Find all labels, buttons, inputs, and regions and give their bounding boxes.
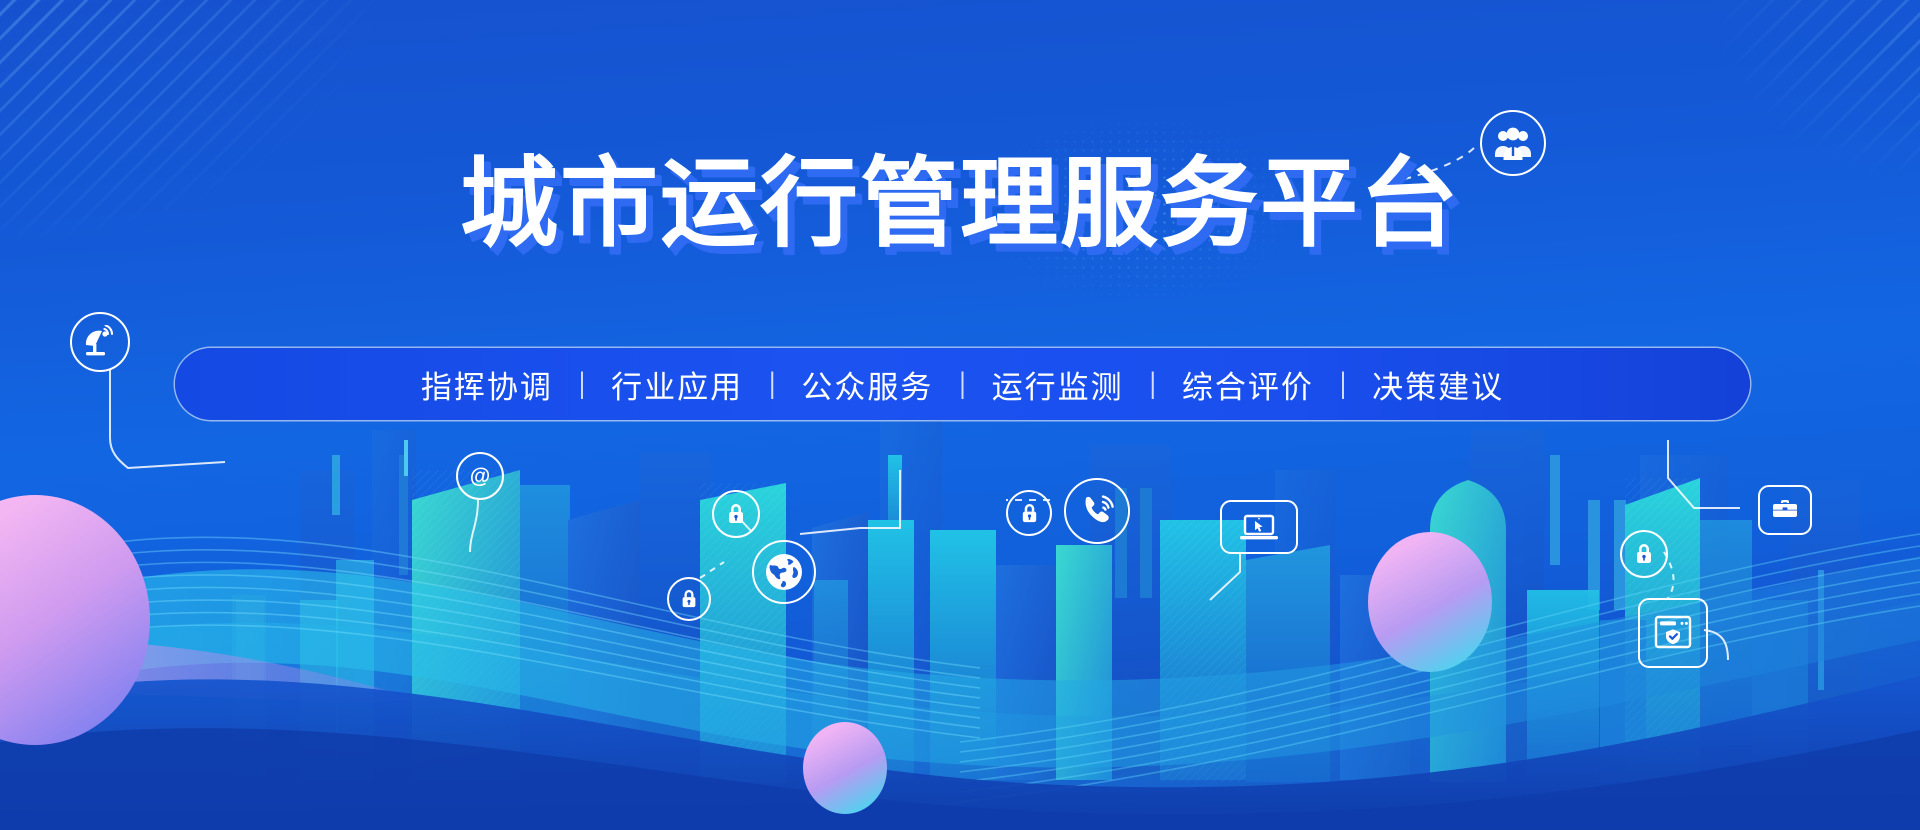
- sphere-left: [0, 495, 150, 745]
- nav-item-gongzhongfuwu[interactable]: 公众服务: [775, 362, 959, 407]
- nav-separator: |: [959, 367, 965, 402]
- globe-icon: [752, 540, 816, 604]
- nav-pill: 指挥协调 | 行业应用 | 公众服务 | 运行监测 | 综合评价 | 决策建议: [175, 348, 1750, 420]
- wave-band-upper: [0, 556, 1920, 768]
- briefcase-icon: [1758, 485, 1812, 535]
- nav-separator: |: [579, 367, 585, 402]
- people-group-icon: [1480, 110, 1546, 176]
- banner-canvas: 城市运行管理服务平台 指挥协调 | 行业应用 | 公众服务 | 运行监测 | 综…: [0, 0, 1920, 830]
- satellite-dish-icon: [70, 312, 130, 372]
- nav-item-zonghepingjia[interactable]: 综合评价: [1156, 362, 1340, 407]
- wave-band-foreground: [0, 676, 1920, 830]
- lock-icon: [1620, 530, 1668, 578]
- laptop-cursor-icon: [1220, 500, 1298, 554]
- nav-separator: |: [1340, 367, 1346, 402]
- lock-icon: [667, 577, 711, 621]
- lock-icon: [712, 490, 760, 538]
- phone-call-icon: [1064, 478, 1130, 544]
- page-title: 城市运行管理服务平台: [0, 152, 1920, 255]
- nav-item-zhihuixietiao[interactable]: 指挥协调: [395, 362, 579, 407]
- wave-lines-right: [960, 534, 1920, 802]
- wave-lines-left: [0, 537, 980, 738]
- nav-separator: |: [769, 367, 775, 402]
- wave-band-foreground-2: [0, 728, 1920, 830]
- wave-band-mid: [0, 600, 1920, 830]
- sphere-mid: [803, 722, 887, 814]
- nav-separator: |: [1150, 367, 1156, 402]
- sphere-right: [1368, 532, 1492, 672]
- nav-item-juncejianyi[interactable]: 决策建议: [1346, 362, 1530, 407]
- browser-shield-icon: [1638, 598, 1708, 668]
- nav-item-yunxingjiance[interactable]: 运行监测: [966, 362, 1150, 407]
- svg-text:@: @: [470, 465, 490, 488]
- wave-band-pink: [20, 640, 420, 702]
- nav-item-hangyeyingyong[interactable]: 行业应用: [585, 362, 769, 407]
- at-sign-icon: @: [456, 452, 504, 500]
- primary-nav: 指挥协调 | 行业应用 | 公众服务 | 运行监测 | 综合评价 | 决策建议: [175, 348, 1750, 420]
- lock-icon: [1006, 490, 1052, 536]
